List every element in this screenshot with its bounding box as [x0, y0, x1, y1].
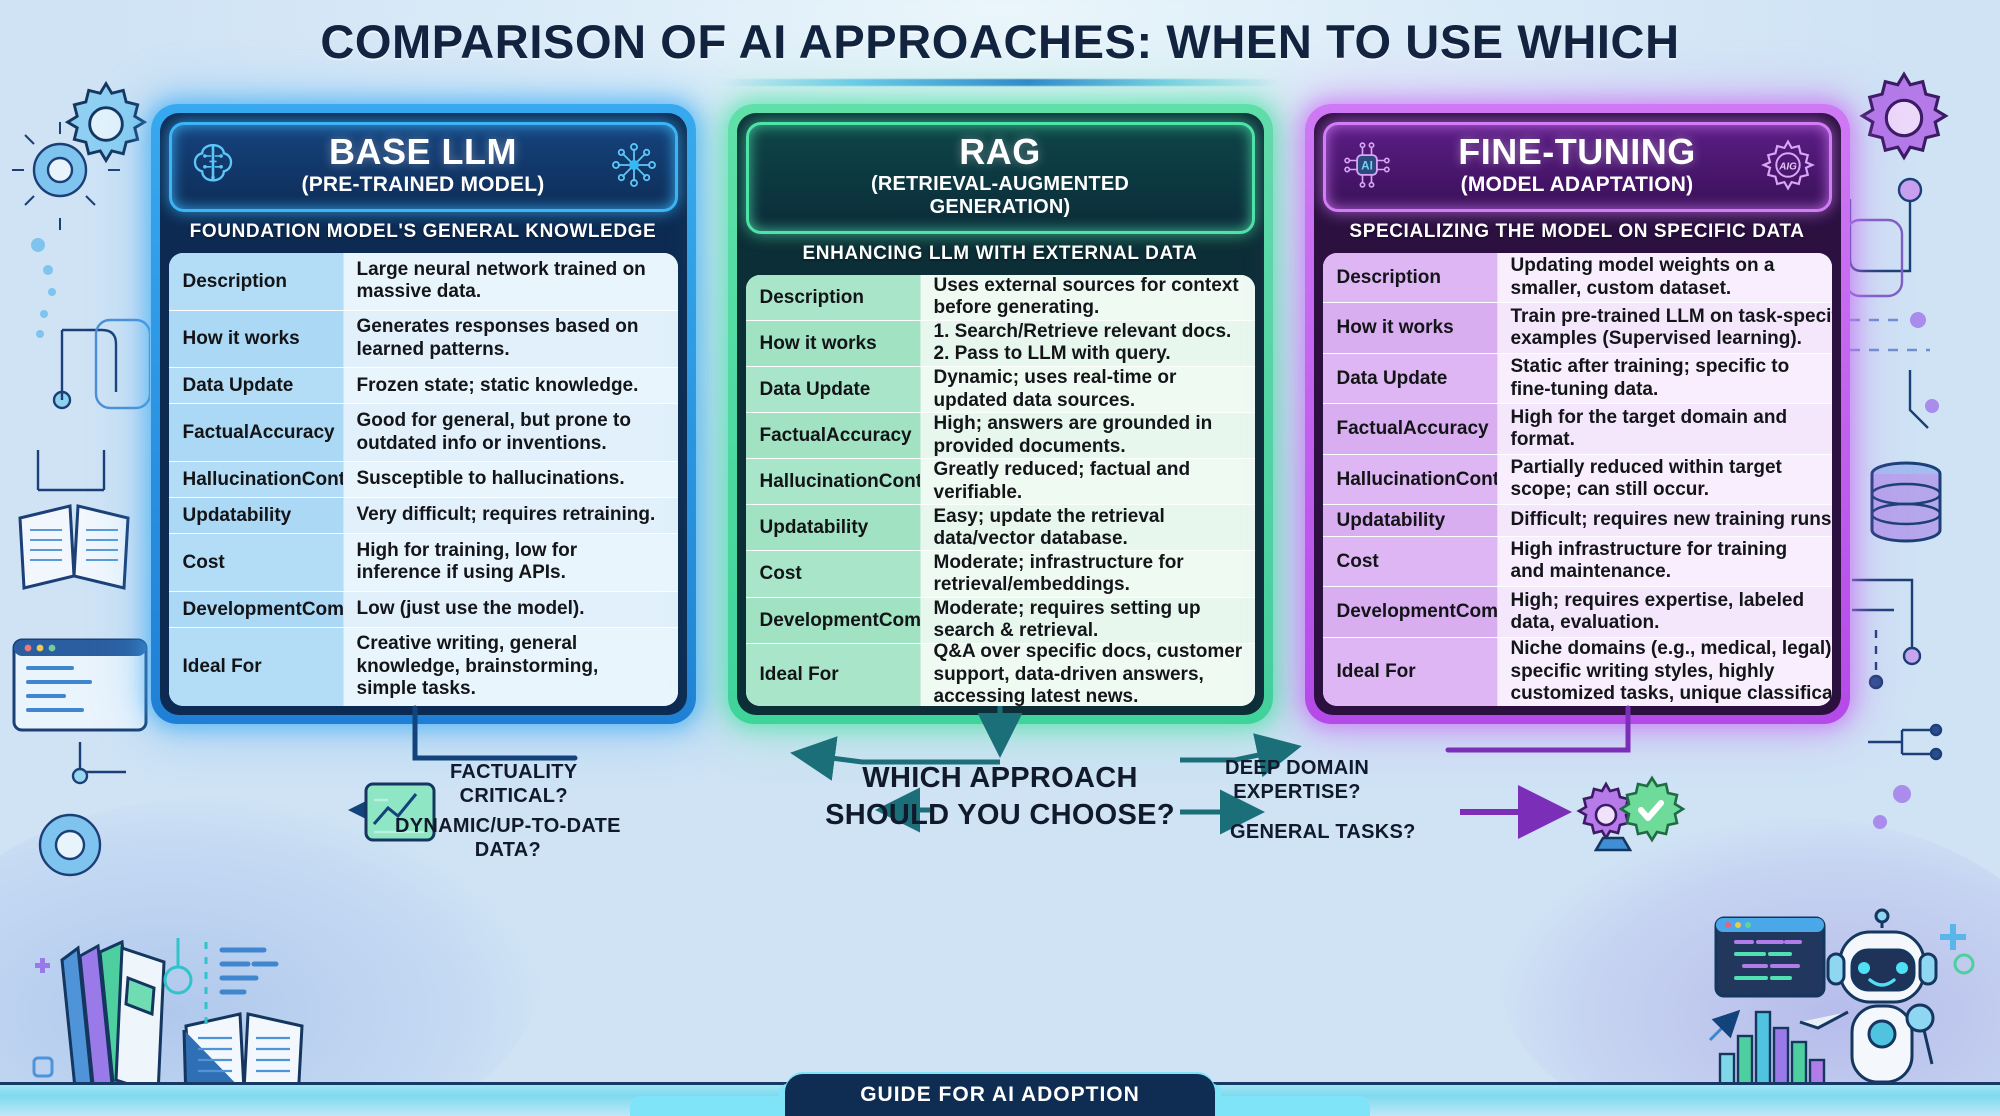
- row-key: DevelopmentComplexity: [746, 598, 920, 643]
- banner-label: GUIDE FOR AI ADOPTION: [860, 1083, 1140, 1107]
- row-key-line: Hallucination: [1337, 469, 1456, 490]
- row-value: Moderate; requires setting upsearch & re…: [920, 598, 1255, 643]
- row-value-line: Good for general, but prone to: [357, 410, 631, 432]
- row-value-line: learned patterns.: [357, 339, 639, 361]
- row-key: Description: [746, 275, 920, 320]
- table-row: Data Update Static after training; speci…: [1323, 353, 1832, 403]
- row-key-line: Accuracy: [1403, 418, 1489, 439]
- table-row: HallucinationControl Greatly reduced; fa…: [746, 458, 1255, 504]
- card-blue: BASE LLM (PRE-TRAINED MODEL) FOUNDATION …: [151, 104, 696, 724]
- row-value-line: Susceptible to hallucinations.: [357, 468, 625, 490]
- row-key: DevelopmentComplexity: [1323, 587, 1497, 636]
- row-value-line: format.: [1511, 429, 1788, 451]
- row-value: High for training, low forinference if u…: [343, 534, 678, 591]
- row-key: Ideal For: [1323, 638, 1497, 706]
- row-value-line: High for training, low for: [357, 540, 578, 562]
- row-key-line: How it works: [183, 328, 300, 349]
- flow-label-factuality: FACTUALITY CRITICAL?: [450, 760, 577, 808]
- row-value-line: and maintenance.: [1511, 561, 1788, 583]
- row-key: How it works: [169, 311, 343, 368]
- row-key: Cost: [746, 551, 920, 596]
- row-value: Uses external sources for contextbefore …: [920, 275, 1255, 320]
- row-value-line: updated data sources.: [934, 390, 1177, 412]
- row-key: Cost: [169, 534, 343, 591]
- row-value-line: massive data.: [357, 281, 646, 303]
- row-value: High for the target domain andformat.: [1497, 404, 1832, 453]
- table-row: Description Large neural network trained…: [169, 253, 678, 310]
- banner-wing-right: [1200, 1096, 1370, 1116]
- row-value: Dynamic; uses real-time orupdated data s…: [920, 367, 1255, 412]
- row-value-line: provided documents.: [934, 436, 1213, 458]
- table-row: Data Update Frozen state; static knowled…: [169, 367, 678, 403]
- row-key-line: Factual: [1337, 418, 1404, 439]
- row-value: High infrastructure for trainingand main…: [1497, 537, 1832, 586]
- row-value-line: support, data-driven answers,: [934, 664, 1243, 686]
- row-key-line: Factual: [760, 425, 827, 446]
- row-value: 1. Search/Retrieve relevant docs.2. Pass…: [920, 321, 1255, 366]
- row-value-line: retrieval/embeddings.: [934, 574, 1184, 596]
- table-row: Updatability Easy; update the retrievald…: [746, 504, 1255, 550]
- row-value: Greatly reduced; factual andverifiable.: [920, 459, 1255, 504]
- row-value-line: High; answers are grounded in: [934, 413, 1213, 435]
- row-key-line: Ideal For: [1337, 661, 1416, 682]
- row-value: Low (just use the model).: [343, 592, 678, 627]
- row-value: Creative writing, generalknowledge, brai…: [343, 628, 678, 706]
- comparison-cards: BASE LLM (PRE-TRAINED MODEL) FOUNDATION …: [0, 104, 2000, 724]
- table-row: Cost High for training, low forinference…: [169, 533, 678, 591]
- row-key: Data Update: [169, 368, 343, 403]
- title-underline: [720, 79, 1280, 86]
- flow-label-dynamic: DYNAMIC/UP-TO-DATE DATA?: [395, 814, 621, 862]
- row-value-line: High infrastructure for training: [1511, 539, 1788, 561]
- card-green: RAG (RETRIEVAL-AUGMENTED GENERATION) ENH…: [728, 104, 1273, 724]
- row-value-line: 2. Pass to LLM with query.: [934, 343, 1232, 365]
- row-value: Partially reduced within targetscope; ca…: [1497, 455, 1832, 504]
- card-title: BASE LLM: [250, 134, 597, 171]
- row-value-line: Static after training; specific to: [1511, 356, 1790, 378]
- decision-flow: WHICH APPROACH SHOULD YOU CHOOSE? FACTUA…: [0, 726, 2000, 886]
- card-tagline: FOUNDATION MODEL'S GENERAL KNOWLEDGE: [169, 212, 678, 253]
- table-row: Ideal For Creative writing, generalknowl…: [169, 627, 678, 706]
- card-subtitle: (MODEL ADAPTATION): [1404, 173, 1751, 197]
- row-value: Frozen state; static knowledge.: [343, 368, 678, 403]
- row-key: HallucinationControl: [746, 459, 920, 504]
- row-value: Moderate; infrastructure forretrieval/em…: [920, 551, 1255, 596]
- row-value-line: Dynamic; uses real-time or: [934, 367, 1177, 389]
- row-value: High; answers are grounded inprovided do…: [920, 413, 1255, 458]
- row-key-line: Factual: [183, 422, 250, 443]
- ai-chip-icon: AI: [1340, 138, 1394, 192]
- row-value-line: Easy; update the retrieval: [934, 506, 1165, 528]
- table-row: Cost Moderate; infrastructure forretriev…: [746, 550, 1255, 596]
- card-title-badge: BASE LLM (PRE-TRAINED MODEL): [169, 122, 678, 212]
- table-row: HallucinationControl Susceptible to hall…: [169, 461, 678, 497]
- card-tagline: SPECIALIZING THE MODEL ON SPECIFIC DATA: [1323, 212, 1832, 253]
- row-key-line: Cost: [1337, 551, 1379, 572]
- row-key-line: Updatability: [1337, 510, 1446, 531]
- gear-ai-icon: AIG: [1761, 138, 1815, 192]
- row-key-line: Data Update: [1337, 368, 1448, 389]
- row-value-line: specific writing styles, highly: [1511, 661, 1832, 683]
- row-key-line: Development: [183, 599, 302, 620]
- row-key-line: Updatability: [760, 517, 869, 538]
- row-value-line: scope; can still occur.: [1511, 479, 1782, 501]
- row-key: Data Update: [746, 367, 920, 412]
- row-value-line: fine-tuning data.: [1511, 379, 1790, 401]
- row-key: Updatability: [746, 505, 920, 550]
- row-value-line: data, evaluation.: [1511, 612, 1805, 634]
- table-row: Cost High infrastructure for trainingand…: [1323, 536, 1832, 586]
- row-value-line: before generating.: [934, 297, 1239, 319]
- table-row: Ideal For Q&A over specific docs, custom…: [746, 643, 1255, 706]
- row-value: Susceptible to hallucinations.: [343, 462, 678, 497]
- table-row: Description Updating model weights on as…: [1323, 253, 1832, 302]
- row-value-line: High for the target domain and: [1511, 407, 1788, 429]
- row-value-line: Partially reduced within target: [1511, 457, 1782, 479]
- card-subtitle: (RETRIEVAL-AUGMENTED GENERATION): [827, 173, 1174, 219]
- row-value-line: Updating model weights on a: [1511, 255, 1775, 277]
- row-key-line: Updatability: [183, 505, 292, 526]
- card-header: RAG (RETRIEVAL-AUGMENTED GENERATION) ENH…: [737, 113, 1264, 275]
- svg-text:AI: AI: [1361, 160, 1373, 173]
- card-header: BASE LLM (PRE-TRAINED MODEL) FOUNDATION …: [160, 113, 687, 253]
- row-key-line: Data Update: [183, 375, 294, 396]
- row-key: How it works: [746, 321, 920, 366]
- flow-center-question: WHICH APPROACH SHOULD YOU CHOOSE?: [825, 760, 1175, 834]
- row-value: Large neural network trained onmassive d…: [343, 253, 678, 310]
- row-value: Updating model weights on asmaller, cust…: [1497, 253, 1832, 302]
- neural-network-icon: [607, 138, 661, 192]
- row-value-line: Generates responses based on: [357, 316, 639, 338]
- brain-icon: [186, 138, 240, 192]
- table-row: DevelopmentComplexity High; requires exp…: [1323, 586, 1832, 636]
- flow-label-general-tasks: GENERAL TASKS?: [1230, 820, 1416, 844]
- card-header: AI FINE-TUNING (MODEL ADAPTATION) AIG SP…: [1314, 113, 1841, 253]
- row-key: DevelopmentComplexity: [169, 592, 343, 627]
- table-row: FactualAccuracy High; answers are ground…: [746, 412, 1255, 458]
- card-subtitle: (PRE-TRAINED MODEL): [250, 173, 597, 197]
- row-key-line: Accuracy: [826, 425, 912, 446]
- table-row: FactualAccuracy High for the target doma…: [1323, 403, 1832, 453]
- card-title-badge: AI FINE-TUNING (MODEL ADAPTATION) AIG: [1323, 122, 1832, 212]
- card-title-badge: RAG (RETRIEVAL-AUGMENTED GENERATION): [746, 122, 1255, 234]
- row-value-line: search & retrieval.: [934, 620, 1201, 642]
- row-value-line: 1. Search/Retrieve relevant docs.: [934, 321, 1232, 343]
- row-value-line: Greatly reduced; factual and: [934, 459, 1191, 481]
- row-value: Very difficult; requires retraining.: [343, 498, 678, 533]
- row-value-line: accessing latest news.: [934, 686, 1243, 706]
- table-row: Ideal For Niche domains (e.g., medical, …: [1323, 637, 1832, 706]
- row-key-line: Accuracy: [249, 422, 335, 443]
- svg-text:AIG: AIG: [1778, 162, 1797, 173]
- row-value-line: Train pre-trained LLM on task-specific: [1511, 306, 1832, 328]
- banner-wing-left: [630, 1096, 800, 1116]
- guide-banner: GUIDE FOR AI ADOPTION: [785, 1074, 1215, 1116]
- row-value-line: High; requires expertise, labeled: [1511, 590, 1805, 612]
- card-title: RAG: [827, 134, 1174, 171]
- row-value-line: Low (just use the model).: [357, 598, 585, 620]
- row-key: FactualAccuracy: [746, 413, 920, 458]
- row-value-line: Very difficult; requires retraining.: [357, 504, 656, 526]
- table-row: How it works Train pre-trained LLM on ta…: [1323, 302, 1832, 352]
- ai-chip-icon: AI: [1340, 138, 1394, 192]
- table-row: Data Update Dynamic; uses real-time orup…: [746, 366, 1255, 412]
- row-value: Difficult; requires new training runs.: [1497, 505, 1832, 536]
- comparison-table: Description Updating model weights on as…: [1323, 253, 1832, 706]
- row-value-line: Niche domains (e.g., medical, legal),: [1511, 638, 1832, 660]
- row-key-line: Ideal For: [183, 656, 262, 677]
- row-key-line: Description: [183, 271, 288, 292]
- row-key-line: Cost: [760, 563, 802, 584]
- row-value-line: knowledge, brainstorming,: [357, 656, 599, 678]
- row-value-line: outdated info or inventions.: [357, 433, 631, 455]
- table-row: How it works Generates responses based o…: [169, 310, 678, 368]
- card-purple: AI FINE-TUNING (MODEL ADAPTATION) AIG SP…: [1305, 104, 1850, 724]
- row-value: Generates responses based onlearned patt…: [343, 311, 678, 368]
- row-key: Data Update: [1323, 354, 1497, 403]
- row-key-line: Development: [1337, 601, 1456, 622]
- row-key-line: Development: [760, 610, 879, 631]
- row-key-line: Hallucination: [183, 469, 302, 490]
- row-key: Ideal For: [746, 644, 920, 706]
- row-value-line: smaller, custom dataset.: [1511, 278, 1775, 300]
- row-value-line: Uses external sources for context: [934, 275, 1239, 297]
- row-value-line: Large neural network trained on: [357, 259, 646, 281]
- table-row: Description Uses external sources for co…: [746, 275, 1255, 320]
- row-value: Train pre-trained LLM on task-specificex…: [1497, 303, 1832, 352]
- table-row: How it works 1. Search/Retrieve relevant…: [746, 320, 1255, 366]
- row-value-line: Q&A over specific docs, customer: [934, 641, 1243, 663]
- row-key: Description: [1323, 253, 1497, 302]
- row-value-line: Creative writing, general: [357, 633, 599, 655]
- row-value: Good for general, but prone tooutdated i…: [343, 404, 678, 461]
- row-key-line: Description: [1337, 267, 1442, 288]
- row-value: Easy; update the retrievaldata/vector da…: [920, 505, 1255, 550]
- gear-ai-icon: AIG: [1761, 138, 1815, 192]
- row-key: Description: [169, 253, 343, 310]
- row-value-line: Frozen state; static knowledge.: [357, 375, 639, 397]
- page-title: COMPARISON OF AI APPROACHES: WHEN TO USE…: [0, 14, 2000, 69]
- neural-network-icon: [607, 138, 661, 192]
- row-value-line: Difficult; requires new training runs.: [1511, 509, 1832, 531]
- row-value-line: customized tasks, unique classification.: [1511, 683, 1832, 705]
- row-key: FactualAccuracy: [1323, 404, 1497, 453]
- flow-label-deep-domain: DEEP DOMAIN EXPERTISE?: [1225, 756, 1369, 804]
- row-key-line: Ideal For: [760, 664, 839, 685]
- row-key-line: Description: [760, 287, 865, 308]
- comparison-table: Description Large neural network trained…: [169, 253, 678, 706]
- row-key-line: Data Update: [760, 379, 871, 400]
- row-value-line: Moderate; requires setting up: [934, 598, 1201, 620]
- row-key: Updatability: [1323, 505, 1497, 536]
- row-key: Ideal For: [169, 628, 343, 706]
- table-row: Updatability Very difficult; requires re…: [169, 497, 678, 533]
- row-key: HallucinationControl: [169, 462, 343, 497]
- comparison-table: Description Uses external sources for co…: [746, 275, 1255, 706]
- row-value: Q&A over specific docs, customersupport,…: [920, 644, 1255, 706]
- row-value: High; requires expertise, labeleddata, e…: [1497, 587, 1832, 636]
- row-value-line: verifiable.: [934, 482, 1191, 504]
- table-row: DevelopmentComplexity Moderate; requires…: [746, 597, 1255, 643]
- table-row: Updatability Difficult; requires new tra…: [1323, 504, 1832, 536]
- row-key: FactualAccuracy: [169, 404, 343, 461]
- row-key: Cost: [1323, 537, 1497, 586]
- row-value-line: Moderate; infrastructure for: [934, 552, 1184, 574]
- row-value-line: data/vector database.: [934, 528, 1165, 550]
- card-tagline: ENHANCING LLM WITH EXTERNAL DATA: [746, 234, 1255, 275]
- row-key: Updatability: [169, 498, 343, 533]
- card-title: FINE-TUNING: [1404, 134, 1751, 171]
- row-key: HallucinationControl: [1323, 455, 1497, 504]
- row-key-line: How it works: [760, 333, 877, 354]
- table-row: DevelopmentComplexity Low (just use the …: [169, 591, 678, 627]
- row-value-line: simple tasks.: [357, 678, 599, 700]
- row-key: How it works: [1323, 303, 1497, 352]
- row-value-line: inference if using APIs.: [357, 562, 578, 584]
- row-key-line: How it works: [1337, 317, 1454, 338]
- row-key-line: Cost: [183, 552, 225, 573]
- row-value-line: examples (Supervised learning).: [1511, 328, 1832, 350]
- row-key-line: Hallucination: [760, 471, 879, 492]
- brain-icon: [186, 138, 240, 192]
- table-row: HallucinationControl Partially reduced w…: [1323, 454, 1832, 504]
- row-value: Niche domains (e.g., medical, legal),spe…: [1497, 638, 1832, 706]
- table-row: FactualAccuracy Good for general, but pr…: [169, 403, 678, 461]
- row-value: Static after training; specific tofine-t…: [1497, 354, 1832, 403]
